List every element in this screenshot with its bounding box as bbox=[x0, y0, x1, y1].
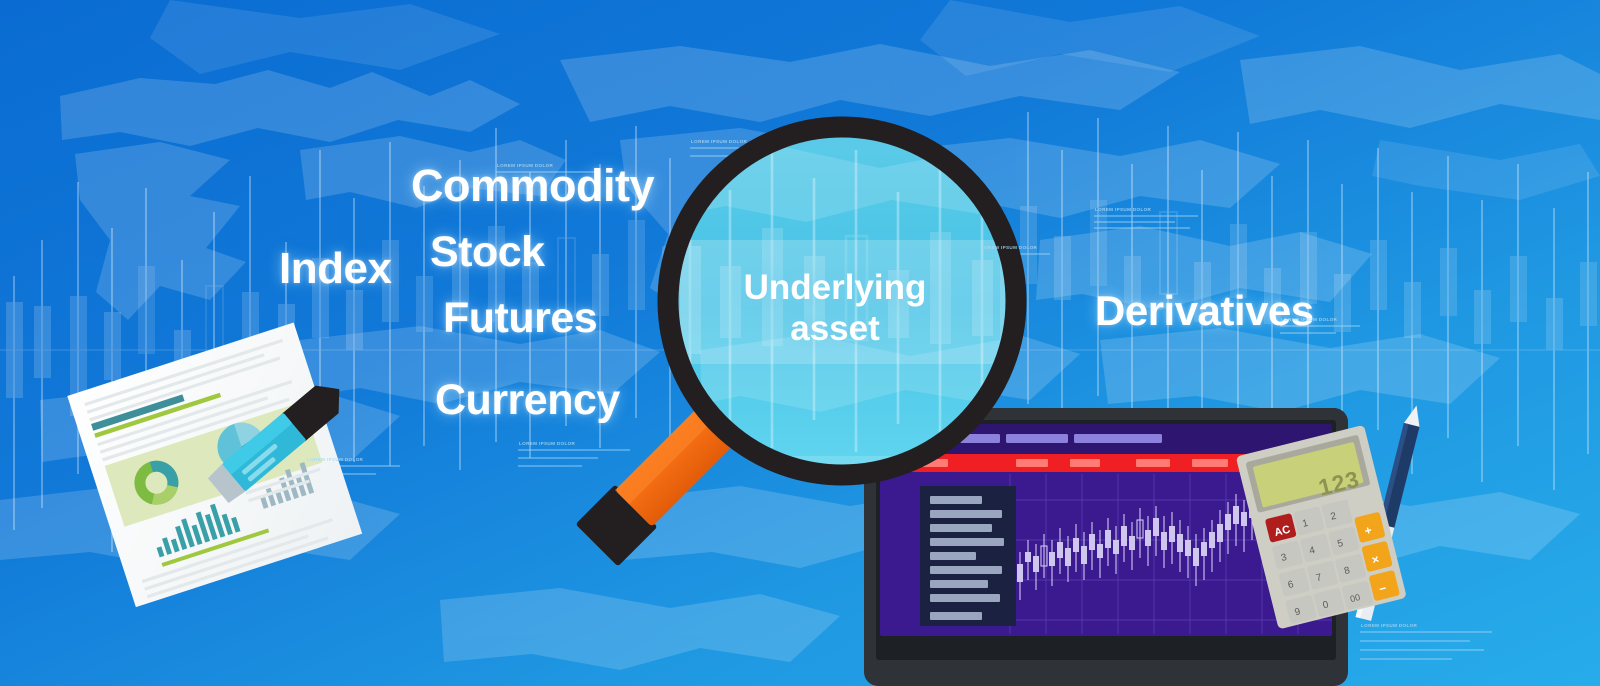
keyword-currency: Currency bbox=[435, 379, 620, 422]
annotation-lorem-8: LOREM IPSUM DOLOR bbox=[981, 245, 1037, 250]
keyword-futures: Futures bbox=[443, 297, 597, 340]
keyword-commodity: Commodity bbox=[411, 163, 654, 208]
keyword-derivatives: Derivatives bbox=[1095, 290, 1314, 332]
annotation-lorem-5: LOREM IPSUM DOLOR bbox=[1281, 317, 1337, 322]
annotation-lorem-2: LOREM IPSUM DOLOR bbox=[1095, 207, 1151, 212]
keyword-stock: Stock bbox=[430, 231, 545, 274]
keyword-index: Index bbox=[279, 247, 391, 291]
illustration-canvas: Commodity Index Stock Futures Currency D… bbox=[0, 0, 1600, 686]
annotation-lorem-3: LOREM IPSUM DOLOR bbox=[519, 441, 575, 446]
magnifier-label: Underlying asset bbox=[700, 268, 970, 350]
annotation-lorem-6: LOREM IPSUM DOLOR bbox=[1361, 623, 1417, 628]
magnifier-label-line2: asset bbox=[700, 309, 970, 350]
annotation-lorem-1: LOREM IPSUM DOLOR bbox=[497, 163, 553, 168]
annotation-lorem-4: LOREM IPSUM DOLOR bbox=[307, 457, 363, 462]
annotation-lorem-7: LOREM IPSUM DOLOR bbox=[691, 139, 747, 144]
magnifier-label-line1: Underlying bbox=[744, 268, 927, 307]
